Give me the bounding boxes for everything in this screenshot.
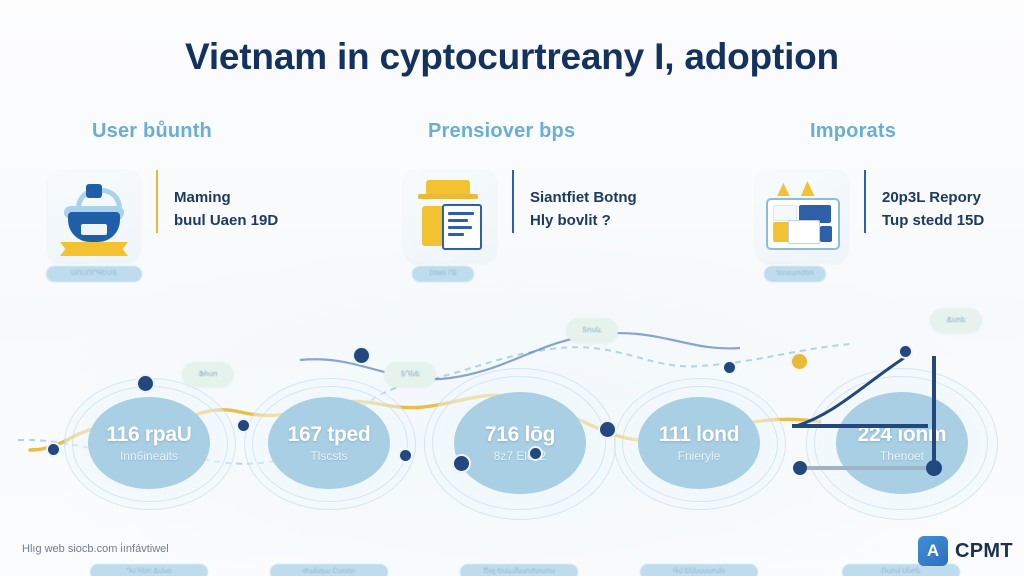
route-marker-8 <box>598 420 617 439</box>
section-heading-provider: Prensiover bps <box>428 120 575 143</box>
node-4-sub: Fnieryle <box>678 449 721 463</box>
card-3-line-2: Tup stedd 15D <box>882 209 984 232</box>
card-2-line-1: Siantfiet Botng <box>530 186 637 209</box>
info-card-3-text: 20p3L Repory Tup stedd 15D <box>864 170 984 233</box>
flow-diagram: 116 rpaU Inn6ineaits Դսՙհնո Ճմսօ 167 tpe… <box>0 300 1024 535</box>
card-2-line-2: Hly bovlit ? <box>530 209 637 232</box>
node-1-sub: Inn6ineaits <box>120 449 178 463</box>
route-marker-1 <box>46 442 61 457</box>
footer-note: Hlıg web siocb.com i̇ınfávtiwel <box>22 543 169 555</box>
info-card-2[interactable]: Ditari 7Ջ Siantfiet Botng Hly bovlit ? <box>404 170 637 262</box>
flow-node-1[interactable]: 116 rpaU Inn6ineaits Դսՙհնո Ճմսօ <box>64 378 234 508</box>
node-4-caption: Գմ Եննսսսոմօ <box>640 564 758 576</box>
flow-node-2[interactable]: 167 tped Tlscsts Ժանդա Ըսռօր <box>244 378 414 508</box>
info-card-1-text: Maming buul Uaen 19D <box>156 170 278 233</box>
brand-logo[interactable]: A CPMT <box>918 536 1013 566</box>
node-2-value: 167 tped <box>288 423 371 447</box>
flow-node-4[interactable]: 111 lond Fnieryle Գմ Եննսսսոմօ <box>614 378 784 508</box>
route-marker-2 <box>136 374 155 393</box>
node-4-core: 111 lond Fnieryle <box>638 397 760 489</box>
page-title: Vietnam in cyptocurtreany I, adoption <box>0 36 1024 78</box>
route-marker-10 <box>790 352 809 371</box>
flow-badge-4: Ճսոե <box>930 308 982 333</box>
document-icon: Ditari 7Ջ <box>404 170 496 262</box>
node-3-core: 716 lōg 8z7 Elo i2 <box>454 392 586 494</box>
card-1-line-1: Maming <box>174 186 278 209</box>
node-1-caption: Դսՙհնո Ճմսօ <box>90 564 208 576</box>
info-card-3[interactable]: Ίօոօսոժեո 20p3L Repory Tup stedd 15D <box>756 170 984 262</box>
route-marker-3 <box>236 418 251 433</box>
flow-badge-1: Ֆհսո <box>182 362 234 387</box>
flow-badge-3: Տոսև <box>566 318 618 343</box>
node-3-value: 716 lōg <box>485 423 555 447</box>
dashboard-icon: Ίօոօսոժեո <box>756 170 848 262</box>
logo-mark-icon: A <box>918 536 948 566</box>
node-5-chart-overlay <box>806 368 1006 528</box>
flow-badge-2: ՏԴնե <box>384 362 436 387</box>
route-marker-11 <box>898 344 913 359</box>
route-marker-4 <box>352 346 371 365</box>
card-3-line-1: 20p3L Repory <box>882 186 984 209</box>
route-marker-7 <box>528 446 543 461</box>
card-caption-3: Ίօոօսոժեո <box>764 266 826 282</box>
logo-wordmark: CPMT <box>955 540 1013 563</box>
basket-icon: ՍՈՍՈՐԳԵՍՏ <box>48 170 140 262</box>
card-1-line-2: buul Uaen 19D <box>174 209 278 232</box>
node-3-caption: Ծօլ Եսևմնսոժտսոս <box>460 564 578 576</box>
info-card-2-text: Siantfiet Botng Hly bovlit ? <box>512 170 637 233</box>
route-marker-9 <box>722 360 737 375</box>
route-marker-5 <box>398 448 413 463</box>
node-1-core: 116 rpaU Inn6ineaits <box>88 397 210 489</box>
flow-node-5[interactable]: 224 ionm Thenoet Ռսոմ Սնոն <box>806 368 996 518</box>
infographic-canvas: Vietnam in cyptocurtreany I, adoption Us… <box>0 0 1024 576</box>
section-heading-imports: Imporats <box>810 120 896 143</box>
info-card-1[interactable]: ՍՈՍՈՐԳԵՍՏ Maming buul Uaen 19D <box>48 170 278 262</box>
node-4-value: 111 lond <box>659 423 739 447</box>
section-heading-user-growth: User bůunth <box>92 120 212 143</box>
card-caption-1: ՍՈՍՈՐԳԵՍՏ <box>46 266 142 282</box>
flow-node-3[interactable]: 716 lōg 8z7 Elo i2 Ծօլ Եսևմնսոժտսոս <box>424 368 614 518</box>
node-2-core: 167 tped Tlscsts <box>268 397 390 489</box>
node-2-caption: Ժանդա Ըսռօր <box>270 564 388 576</box>
node-1-value: 116 rpaU <box>106 423 191 447</box>
route-marker-6 <box>452 454 471 473</box>
node-2-sub: Tlscsts <box>310 449 347 463</box>
card-caption-2: Ditari 7Ջ <box>412 266 474 282</box>
